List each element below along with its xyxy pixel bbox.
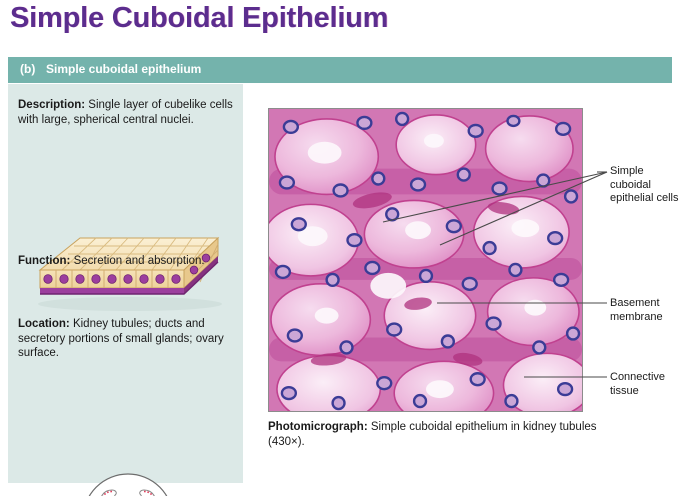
location-label: Location: xyxy=(18,318,70,330)
kidney-location-icon xyxy=(68,470,188,496)
function-text: Secretion and absorption. xyxy=(70,255,204,267)
callout-basement-membrane: Basement membrane xyxy=(610,297,680,324)
panel-heading: Simple cuboidal epithelium xyxy=(46,62,201,76)
caption-label: Photomicrograph: xyxy=(268,421,368,433)
page-title: Simple Cuboidal Epithelium xyxy=(10,2,388,35)
panel-letter: (b) xyxy=(20,62,35,76)
function-block: Function: Secretion and absorption. xyxy=(18,254,236,269)
cuboidal-epithelium-3d-icon xyxy=(22,232,234,312)
function-label: Function: xyxy=(18,255,70,267)
description-panel: Description: Single layer of cubelike ce… xyxy=(8,84,243,483)
callout-epithelial-cells: Simple cuboidal epithelial cells xyxy=(610,165,680,206)
photomicrograph-caption: Photomicrograph: Simple cuboidal epithel… xyxy=(268,420,598,449)
description-label: Description: xyxy=(18,99,85,111)
description-block: Description: Single layer of cubelike ce… xyxy=(18,98,236,127)
callout-connective-tissue: Connective tissue xyxy=(610,371,680,398)
panel-header-band: (b) Simple cuboidal epithelium xyxy=(8,57,672,83)
location-block: Location: Kidney tubules; ducts and secr… xyxy=(18,317,236,361)
photomicrograph-image xyxy=(268,108,583,412)
figure-root: Simple Cuboidal Epithelium (b) Simple cu… xyxy=(0,0,680,496)
